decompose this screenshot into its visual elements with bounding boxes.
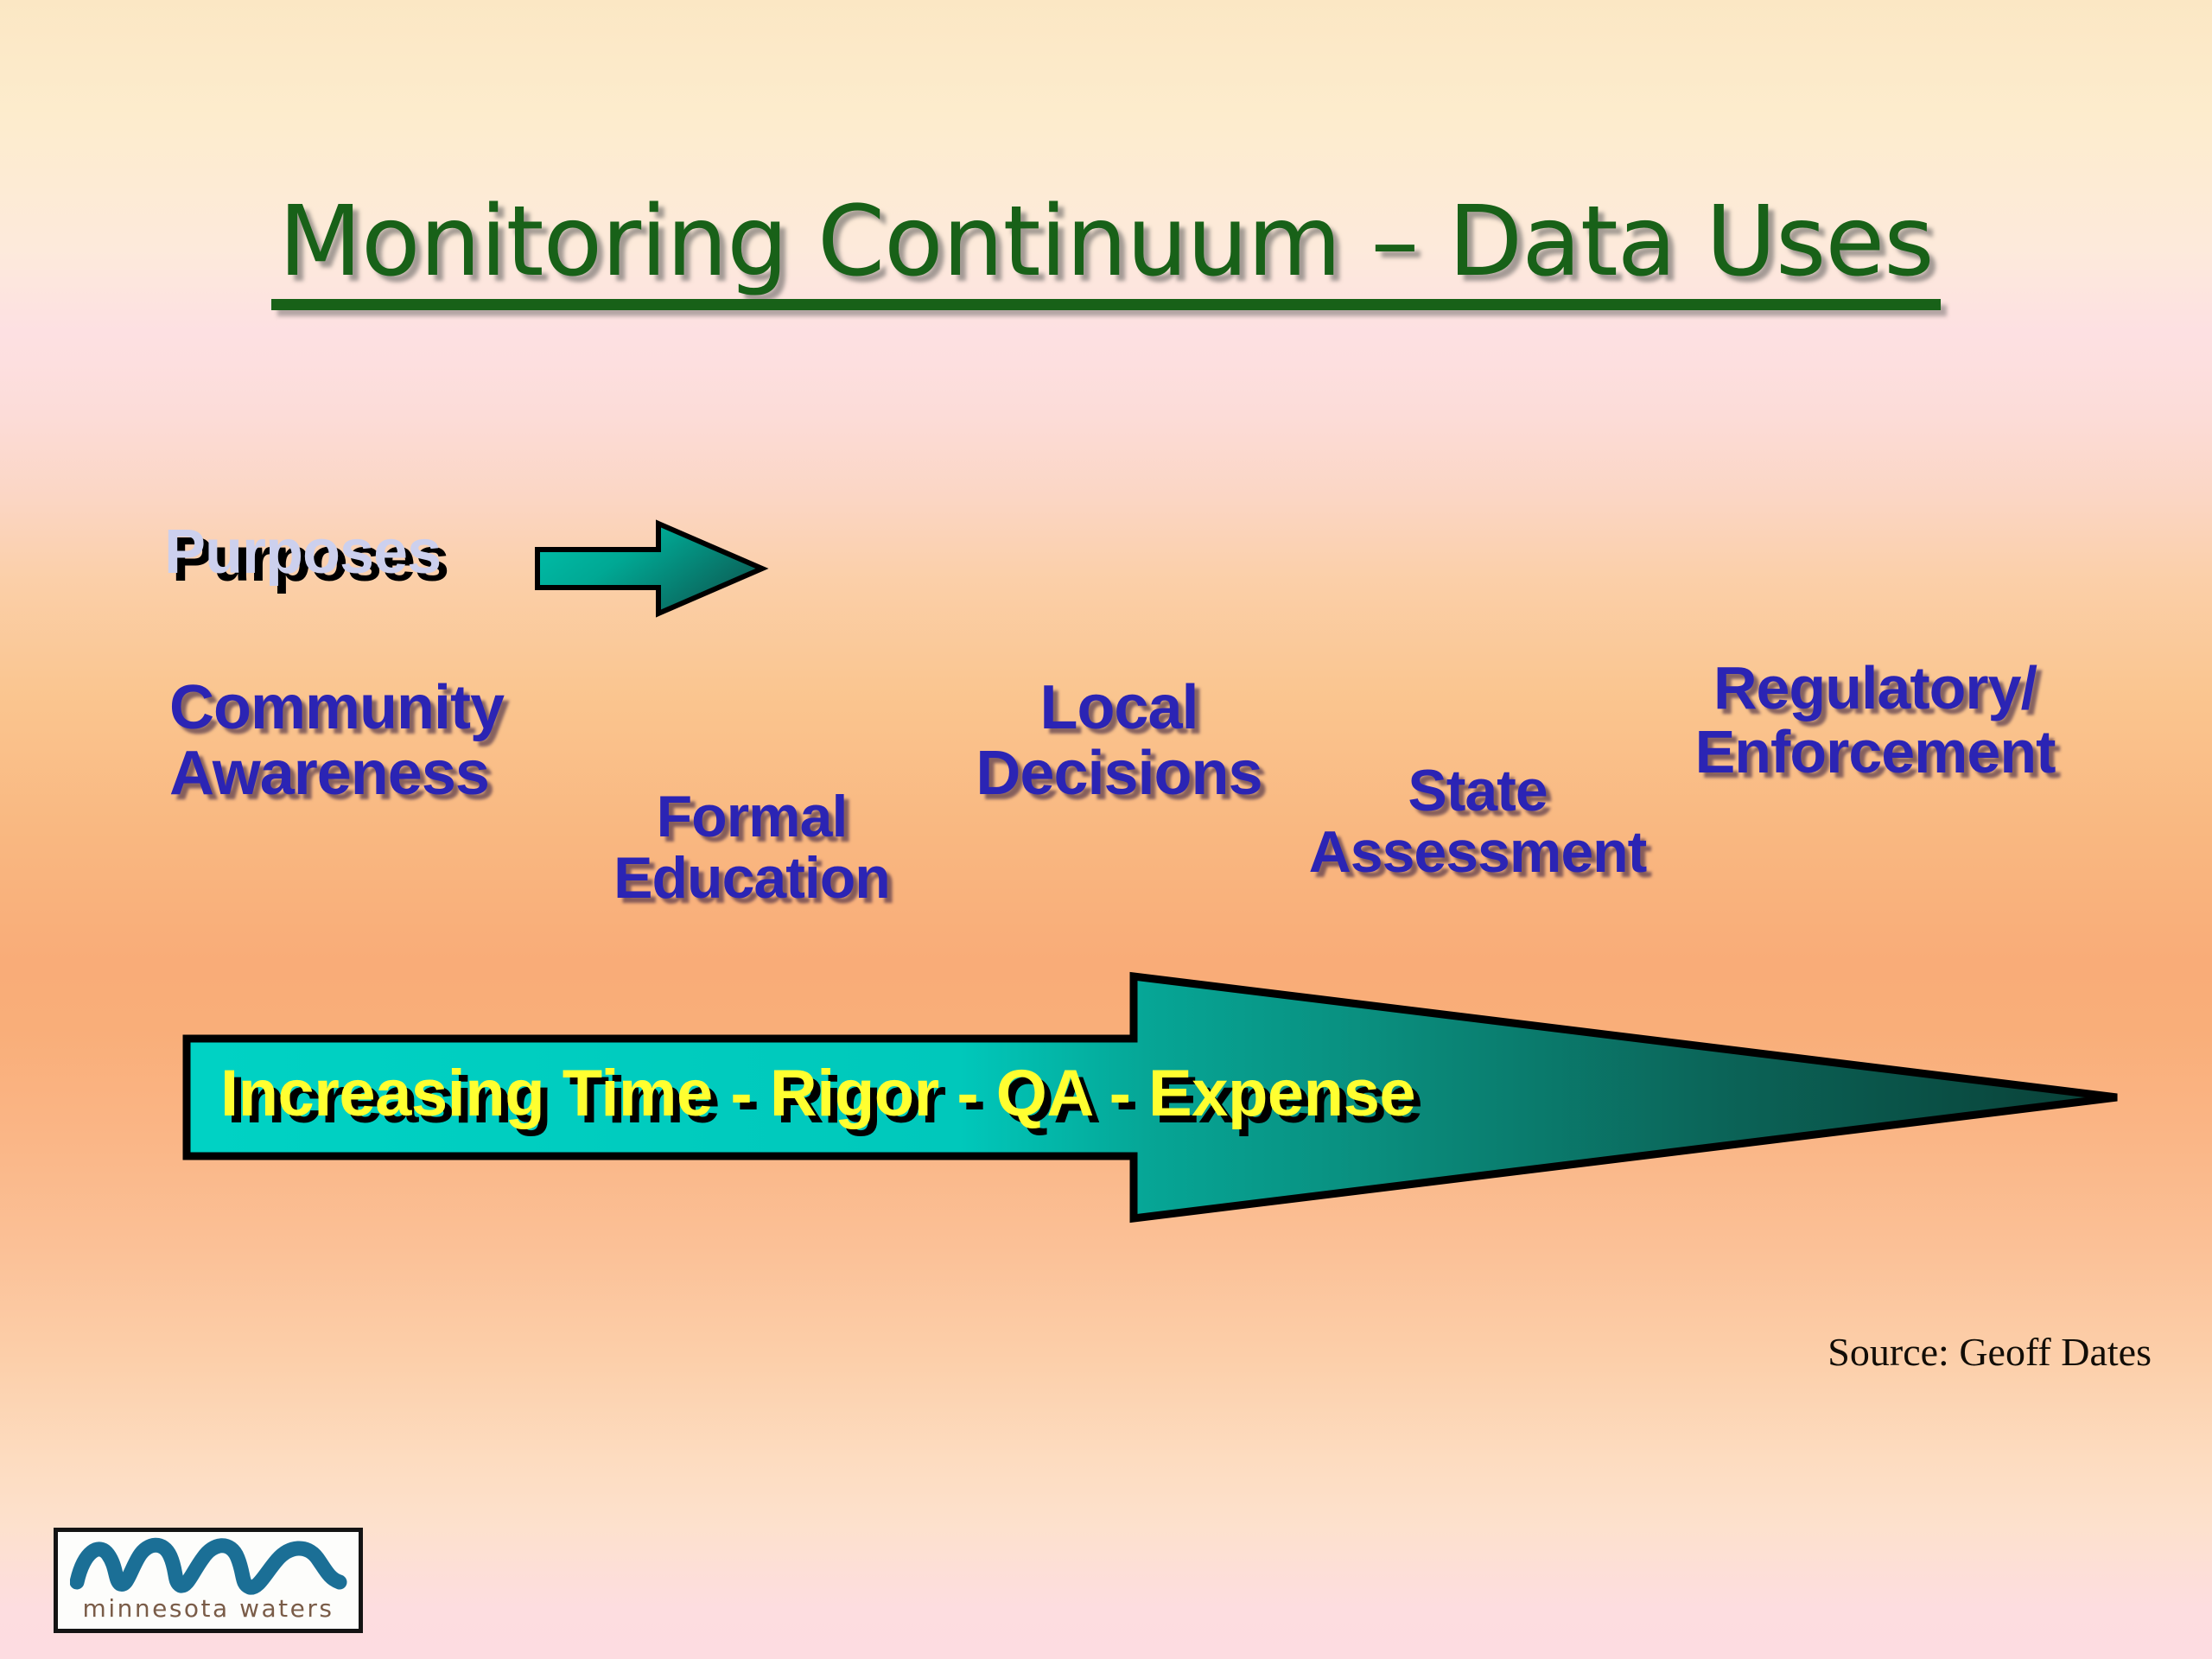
page-title-text: Monitoring Continuum – Data Uses xyxy=(278,186,1933,298)
source-credit: Source: Geoff Dates xyxy=(1827,1329,2152,1375)
slide-canvas: Monitoring Continuum – Data Uses Purpose… xyxy=(0,0,2212,1659)
page-title-inner: Monitoring Continuum – Data Uses xyxy=(278,186,1933,310)
purposes-label: Purposes xyxy=(164,517,441,588)
purpose-regulatory-enforcement: Regulatory/ Enforcement xyxy=(1642,657,2108,784)
page-title: Monitoring Continuum – Data Uses xyxy=(0,186,2212,310)
continuum-arrow-label: Increasing Time - Rigor - QA - Expense xyxy=(220,1056,1415,1131)
title-underline xyxy=(271,299,1940,310)
minnesota-waters-logo: minnesota waters xyxy=(54,1528,363,1633)
logo-wordmark: minnesota waters xyxy=(58,1594,359,1623)
purpose-community-awareness: Community Awareness xyxy=(169,676,504,806)
purpose-formal-education: Formal Education xyxy=(570,786,933,910)
purpose-state-assessment: State Assessment xyxy=(1244,760,1711,884)
wave-mark-icon xyxy=(70,1535,352,1598)
right-arrow-icon xyxy=(529,517,771,620)
